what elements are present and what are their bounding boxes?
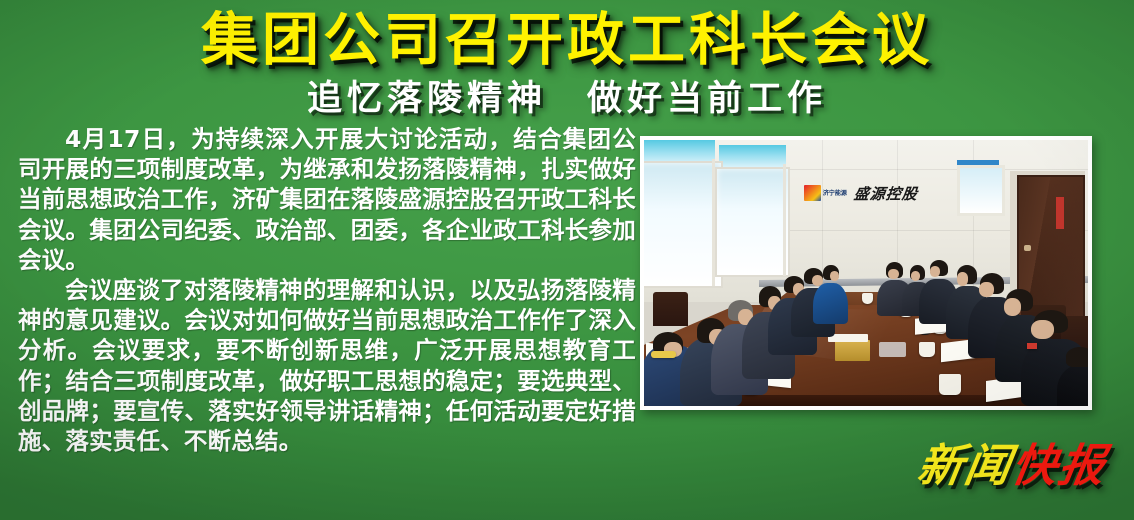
wall-company-logo: 济宁能源 盛源控股: [804, 183, 918, 204]
page-subtitle: 追忆落陵精神 做好当前工作: [307, 77, 827, 121]
news-banner-yellow: 新闻: [914, 439, 1016, 492]
poster-header: 集团公司召开政工科长会议 追忆落陵精神 做好当前工作: [0, 6, 1134, 121]
person-left-7: [813, 265, 849, 324]
wall-logo-text: 济宁能源: [823, 190, 847, 197]
news-poster: 集团公司召开政工科长会议 追忆落陵精神 做好当前工作 4月17日，为持续深入开展…: [0, 0, 1134, 520]
news-flash-banner: 新闻快报: [914, 440, 1110, 492]
news-photo-frame: 济宁能源 盛源控股: [640, 136, 1092, 410]
page-title: 集团公司召开政工科长会议: [201, 6, 933, 74]
news-photo: 济宁能源 盛源控股: [644, 140, 1088, 406]
news-banner-red: 快报: [1008, 439, 1110, 492]
jne-logo-icon: [804, 185, 821, 201]
wall-calligraphy: 盛源控股: [853, 183, 919, 204]
article-body: 4月17日，为持续深入开展大讨论活动，结合集团公司开展的三项制度改革，为继承和发…: [18, 124, 636, 456]
article-paragraph-2: 会议座谈了对落陵精神的理解和认识，以及弘扬落陵精神的意见建议。会议对如何做好当前…: [18, 275, 636, 456]
article-paragraph-1: 4月17日，为持续深入开展大讨论活动，结合集团公司开展的三项制度改革，为继承和发…: [18, 124, 636, 275]
person-right-6: [1057, 347, 1088, 406]
